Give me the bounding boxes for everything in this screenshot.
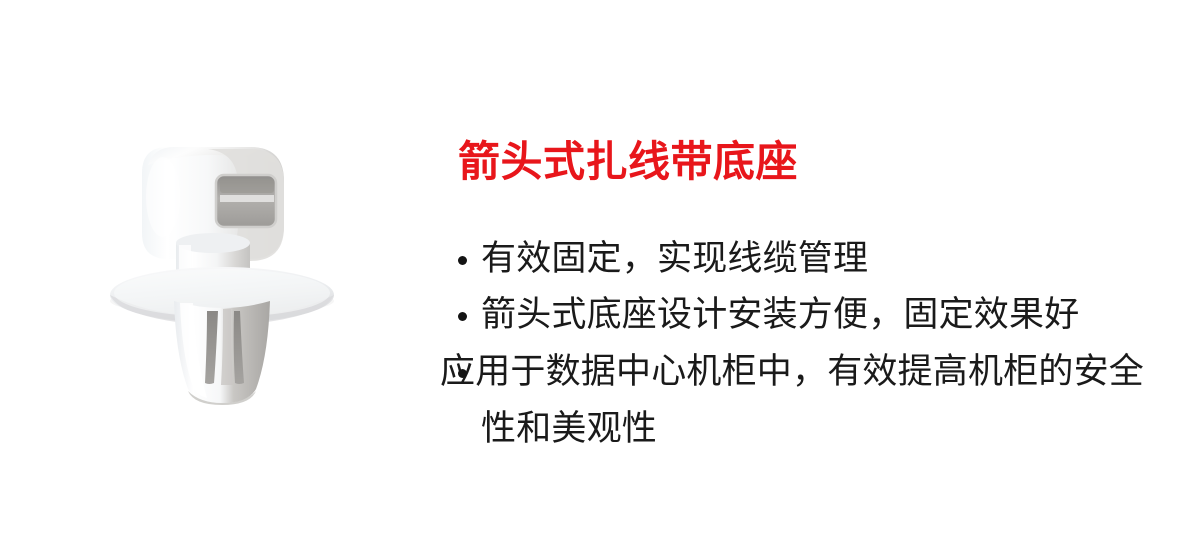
feature-list: 有效固定，实现线缆管理 箭头式底座设计安装方便，固定效果好 应用于数据中心机柜中… [440,231,1160,458]
feature-text: 箭头式底座设计安装方便，固定效果好 [481,295,1079,334]
list-item: 有效固定，实现线缆管理 [440,231,1160,288]
bullet-dot-icon [458,312,467,321]
bullet-dot-icon [458,256,467,265]
feature-text: 应用于数据中心机柜中，有效提高机柜的安全性和美观性 [440,352,1144,448]
arrow-head-cable-tie-mount-illustration [90,135,380,420]
product-feature-banner: 箭头式扎线带底座 有效固定，实现线缆管理 箭头式底座设计安装方便，固定效果好 应… [0,0,1200,560]
copy-column: 箭头式扎线带底座 有效固定，实现线缆管理 箭头式底座设计安装方便，固定效果好 应… [440,140,1160,457]
page-title: 箭头式扎线带底座 [458,140,1160,185]
list-item: 箭头式底座设计安装方便，固定效果好 [440,287,1160,344]
arrow-anchor-leg [174,301,270,405]
product-image [90,135,380,420]
feature-text: 有效固定，实现线缆管理 [481,239,868,278]
list-item: 应用于数据中心机柜中，有效提高机柜的安全性和美观性 [440,344,1160,457]
bullet-dot-icon [458,369,467,378]
